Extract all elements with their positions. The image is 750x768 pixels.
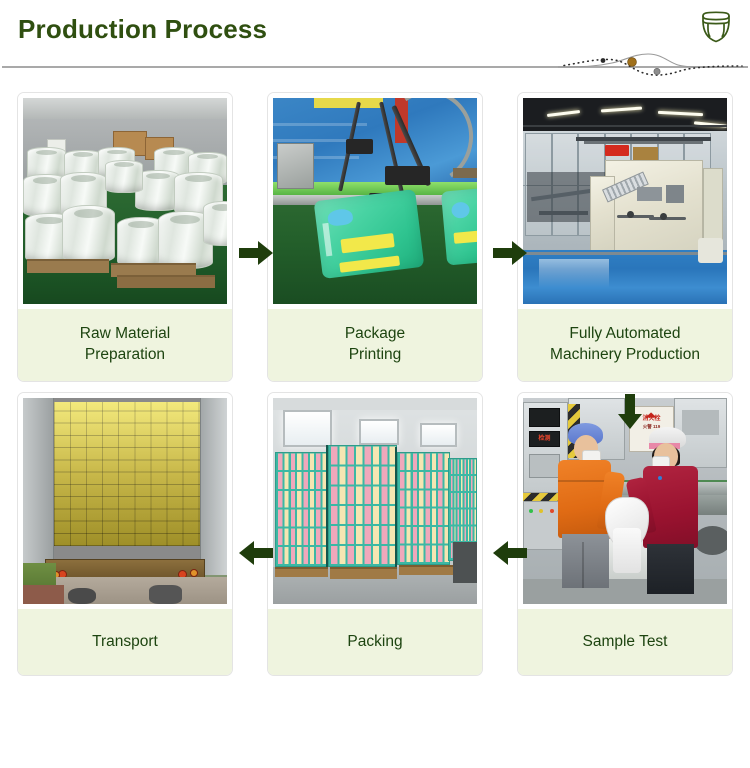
- process-row-2: Transport: [0, 392, 750, 682]
- step-caption: Packing: [268, 609, 482, 675]
- page-header: Production Process: [0, 0, 750, 70]
- arrow-left-icon: [493, 540, 527, 566]
- process-step-package-printing[interactable]: Package Printing: [250, 92, 500, 382]
- caption-line: Package: [345, 323, 405, 344]
- step-caption: Package Printing: [268, 309, 482, 381]
- production-process-page: Production Process: [0, 0, 750, 768]
- step-photo-package-printing: [268, 93, 482, 309]
- step-card[interactable]: 检测: [517, 392, 733, 676]
- step-card[interactable]: Packing: [267, 392, 483, 676]
- step-card[interactable]: Transport: [17, 392, 233, 676]
- process-step-packing[interactable]: Packing: [250, 392, 500, 676]
- process-row-1: Raw Material Preparation: [0, 92, 750, 392]
- machine-display-label: 检测: [530, 432, 559, 442]
- step-photo-machinery: [518, 93, 732, 309]
- step-photo-transport: [18, 393, 232, 609]
- step-card[interactable]: Fully Automated Machinery Production: [517, 92, 733, 382]
- arrow-down-icon: [617, 394, 643, 430]
- caption-line: Machinery Production: [550, 344, 700, 365]
- caption-line: Printing: [345, 344, 405, 365]
- step-caption: Transport: [18, 609, 232, 675]
- step-photo-packing: [268, 393, 482, 609]
- caption-line: Preparation: [80, 344, 170, 365]
- page-title: Production Process: [18, 12, 267, 46]
- step-caption: Raw Material Preparation: [18, 309, 232, 381]
- caption-line: Sample Test: [582, 631, 667, 652]
- arrow-left-icon: [239, 540, 273, 566]
- step-caption: Sample Test: [518, 609, 732, 675]
- process-flow: Raw Material Preparation: [0, 92, 750, 682]
- arrow-right-icon: [239, 240, 273, 266]
- header-divider: [0, 62, 750, 88]
- caption-line: Raw Material: [80, 323, 170, 344]
- wave-dots-ornament-icon: [556, 50, 746, 84]
- arrow-right-icon: [493, 240, 527, 266]
- diaper-icon: [696, 8, 736, 46]
- process-step-raw-material-preparation[interactable]: Raw Material Preparation: [0, 92, 250, 382]
- process-step-sample-test[interactable]: 检测: [500, 392, 750, 676]
- step-card[interactable]: Raw Material Preparation: [17, 92, 233, 382]
- process-step-fully-automated-machinery-production[interactable]: Fully Automated Machinery Production: [500, 92, 750, 382]
- caption-line: Transport: [92, 631, 158, 652]
- step-caption: Fully Automated Machinery Production: [518, 309, 732, 381]
- process-step-transport[interactable]: Transport: [0, 392, 250, 676]
- caption-line: Fully Automated: [550, 323, 700, 344]
- step-photo-raw-material: [18, 93, 232, 309]
- step-card[interactable]: Package Printing: [267, 92, 483, 382]
- caption-line: Packing: [347, 631, 402, 652]
